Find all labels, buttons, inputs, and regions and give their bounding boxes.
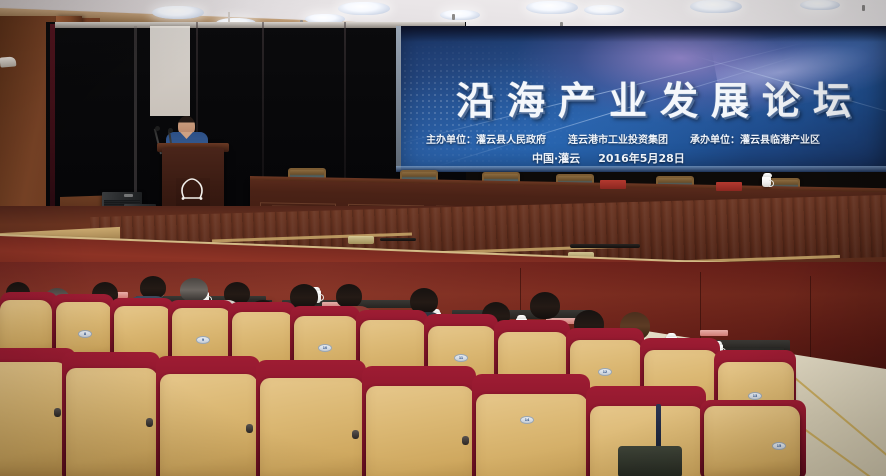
banner-location: 中国·灌云	[532, 152, 580, 165]
ceiling-hook	[862, 5, 865, 11]
seat-armrest-cap	[54, 408, 61, 417]
seat-number-plate: 8	[78, 330, 92, 338]
table-name-card	[716, 182, 742, 191]
curtain-red-edge	[50, 24, 55, 232]
seat-number-plate: 13	[748, 392, 762, 400]
auditorium-seat	[160, 374, 258, 476]
audience-head	[180, 278, 208, 302]
banner-left-frame	[396, 26, 401, 172]
banner-organizer-1: 主办单位：灌云县人民政府	[426, 135, 546, 146]
seat-number: 10	[319, 345, 331, 350]
seat-number: 9	[197, 337, 209, 342]
stage-cable	[570, 244, 640, 248]
ceiling-downlight	[800, 0, 840, 10]
auditorium-seat	[366, 386, 474, 476]
loudspeaker-badge	[124, 194, 133, 197]
seat-number: 8	[79, 331, 91, 336]
stage-cable	[380, 238, 416, 241]
podium-crest-icon	[178, 178, 206, 202]
seat-armrest-cap	[462, 436, 469, 445]
ceiling-downlight	[338, 2, 390, 15]
auditorium-seat	[66, 368, 158, 476]
banner-organizers-line: 主办单位：灌云县人民政府连云港市工业投资集团承办单位：灌云县临港产业区	[426, 131, 886, 146]
conference-hall-photo: 沿海产业发展论坛 主办单位：灌云县人民政府连云港市工业投资集团承办单位：灌云县临…	[0, 0, 886, 476]
seat-number-plate: 11	[454, 354, 468, 362]
ceiling-downlight	[690, 0, 742, 13]
wall-sconce-light	[0, 56, 16, 67]
banner-title: 沿海产业发展论坛	[456, 70, 886, 125]
backstage-wall-patch	[150, 26, 190, 116]
seat-number-plate: 9	[196, 336, 210, 344]
auditorium-seat	[476, 394, 588, 476]
seat-armrest-cap	[146, 418, 153, 427]
auditorium-seat	[260, 378, 364, 476]
ceiling-downlight	[526, 1, 578, 14]
ceiling-downlight	[440, 10, 480, 20]
seat-number: 13	[749, 393, 761, 398]
seat-number: 12	[599, 369, 611, 374]
banner-organizer-2: 连云港市工业投资集团	[568, 135, 668, 146]
ceiling-downlight	[584, 5, 624, 15]
seat-armrest-cap	[352, 430, 359, 439]
microphone-head	[155, 126, 160, 131]
seat-armrest-cap	[246, 424, 253, 433]
seat-number-plate: 10	[318, 344, 332, 352]
seat-number: 15	[773, 443, 785, 448]
banner-date: 2016年5月28日	[598, 152, 685, 165]
table-name-card	[600, 180, 626, 189]
audience-head	[336, 284, 362, 308]
seat-number-plate: 12	[598, 368, 612, 376]
seat-number: 11	[455, 355, 467, 360]
seat-number-plate: 15	[772, 442, 786, 450]
auditorium-seat	[0, 362, 68, 476]
auditorium-seat	[704, 406, 800, 476]
microphone-head	[168, 128, 173, 133]
umbrella	[656, 404, 661, 450]
teacup	[762, 176, 771, 187]
seat-number-plate: 14	[520, 416, 534, 424]
ceiling-hook	[452, 14, 455, 20]
event-banner: 沿海产业发展论坛 主办单位：灌云县人民政府连云港市工业投资集团承办单位：灌云县临…	[396, 26, 886, 172]
ceiling-downlight	[152, 6, 204, 19]
banner-top-shade	[396, 26, 886, 42]
backpack	[618, 446, 682, 476]
banner-organizer-3: 承办单位：灌云县临港产业区	[690, 135, 820, 146]
banner-location-date-line: 中国·灌云2016年5月28日	[532, 150, 862, 166]
seat-number: 14	[521, 417, 533, 422]
banner-bottom-edge	[396, 166, 886, 172]
stage-prop-object	[348, 236, 374, 244]
desk-name-card	[700, 330, 728, 336]
audience-head	[530, 292, 560, 319]
